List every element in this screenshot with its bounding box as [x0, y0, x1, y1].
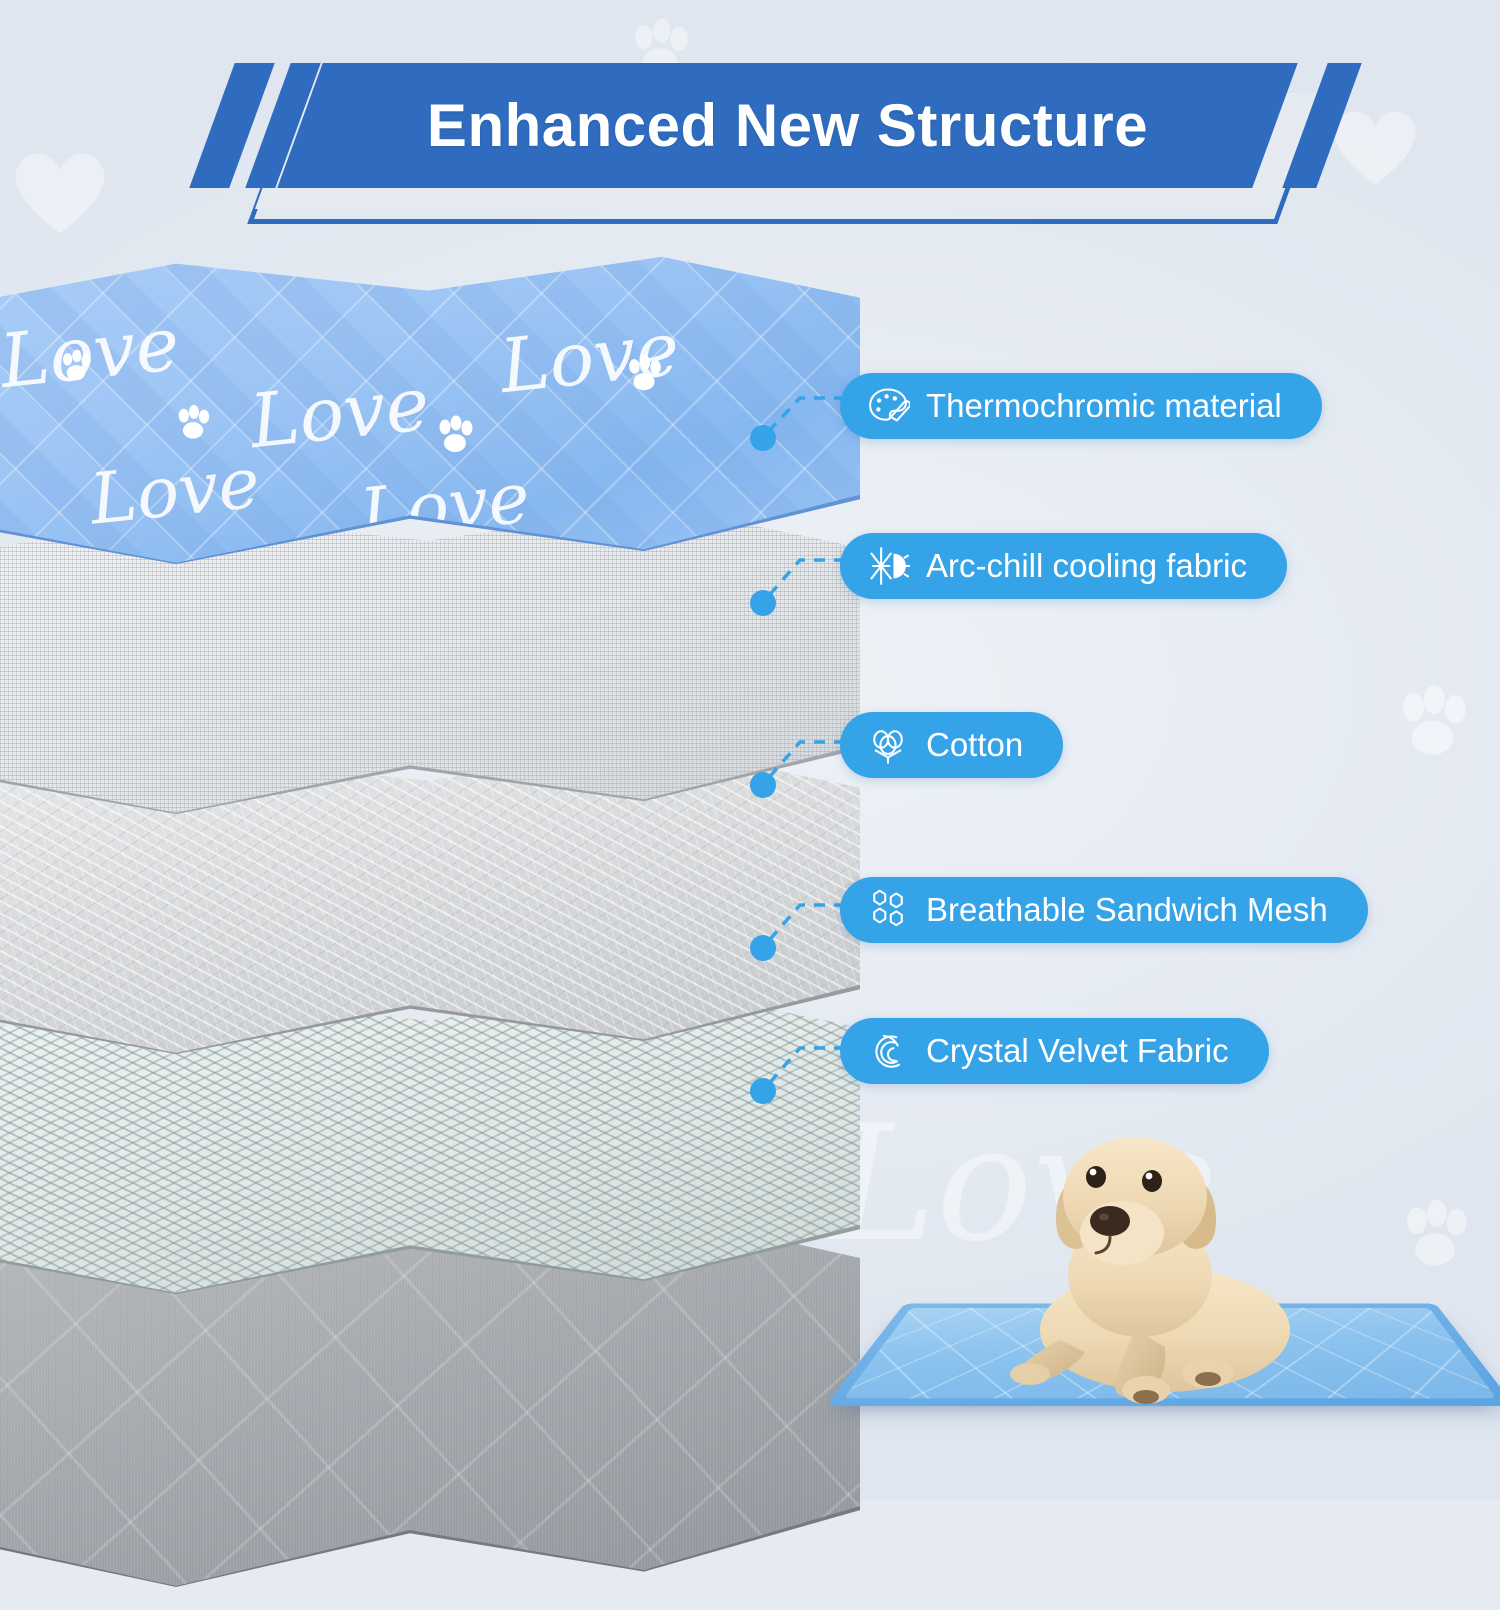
snowflake-sun-icon — [866, 544, 910, 588]
connector-mesh — [765, 905, 845, 945]
connector-dot — [750, 1078, 776, 1104]
connector-arc-chill — [765, 560, 845, 600]
feature-label: Arc-chill cooling fabric — [926, 547, 1247, 585]
honeycomb-mesh-icon — [866, 888, 910, 932]
connector-velvet — [765, 1048, 845, 1088]
paint-palette-icon — [866, 384, 910, 428]
feature-label: Thermochromic material — [926, 387, 1282, 425]
feature-label: Breathable Sandwich Mesh — [926, 891, 1328, 929]
connector-cotton — [765, 742, 845, 782]
connector-dot — [750, 590, 776, 616]
velvet-swirl-icon — [866, 1029, 910, 1073]
feature-pill-cotton[interactable]: Cotton — [840, 712, 1063, 778]
feature-pill-arc-chill[interactable]: Arc-chill cooling fabric — [840, 533, 1287, 599]
feature-pill-mesh[interactable]: Breathable Sandwich Mesh — [840, 877, 1368, 943]
connector-dot — [750, 935, 776, 961]
connector-dot — [750, 772, 776, 798]
connector-thermochromic — [765, 398, 845, 435]
connector-lines — [0, 0, 1500, 1500]
feature-pill-thermochromic[interactable]: Thermochromic material — [840, 373, 1322, 439]
connector-dot — [750, 425, 776, 451]
feature-pill-velvet[interactable]: Crystal Velvet Fabric — [840, 1018, 1269, 1084]
cotton-boll-icon — [866, 723, 910, 767]
feature-label: Crystal Velvet Fabric — [926, 1032, 1229, 1070]
feature-label: Cotton — [926, 726, 1023, 764]
